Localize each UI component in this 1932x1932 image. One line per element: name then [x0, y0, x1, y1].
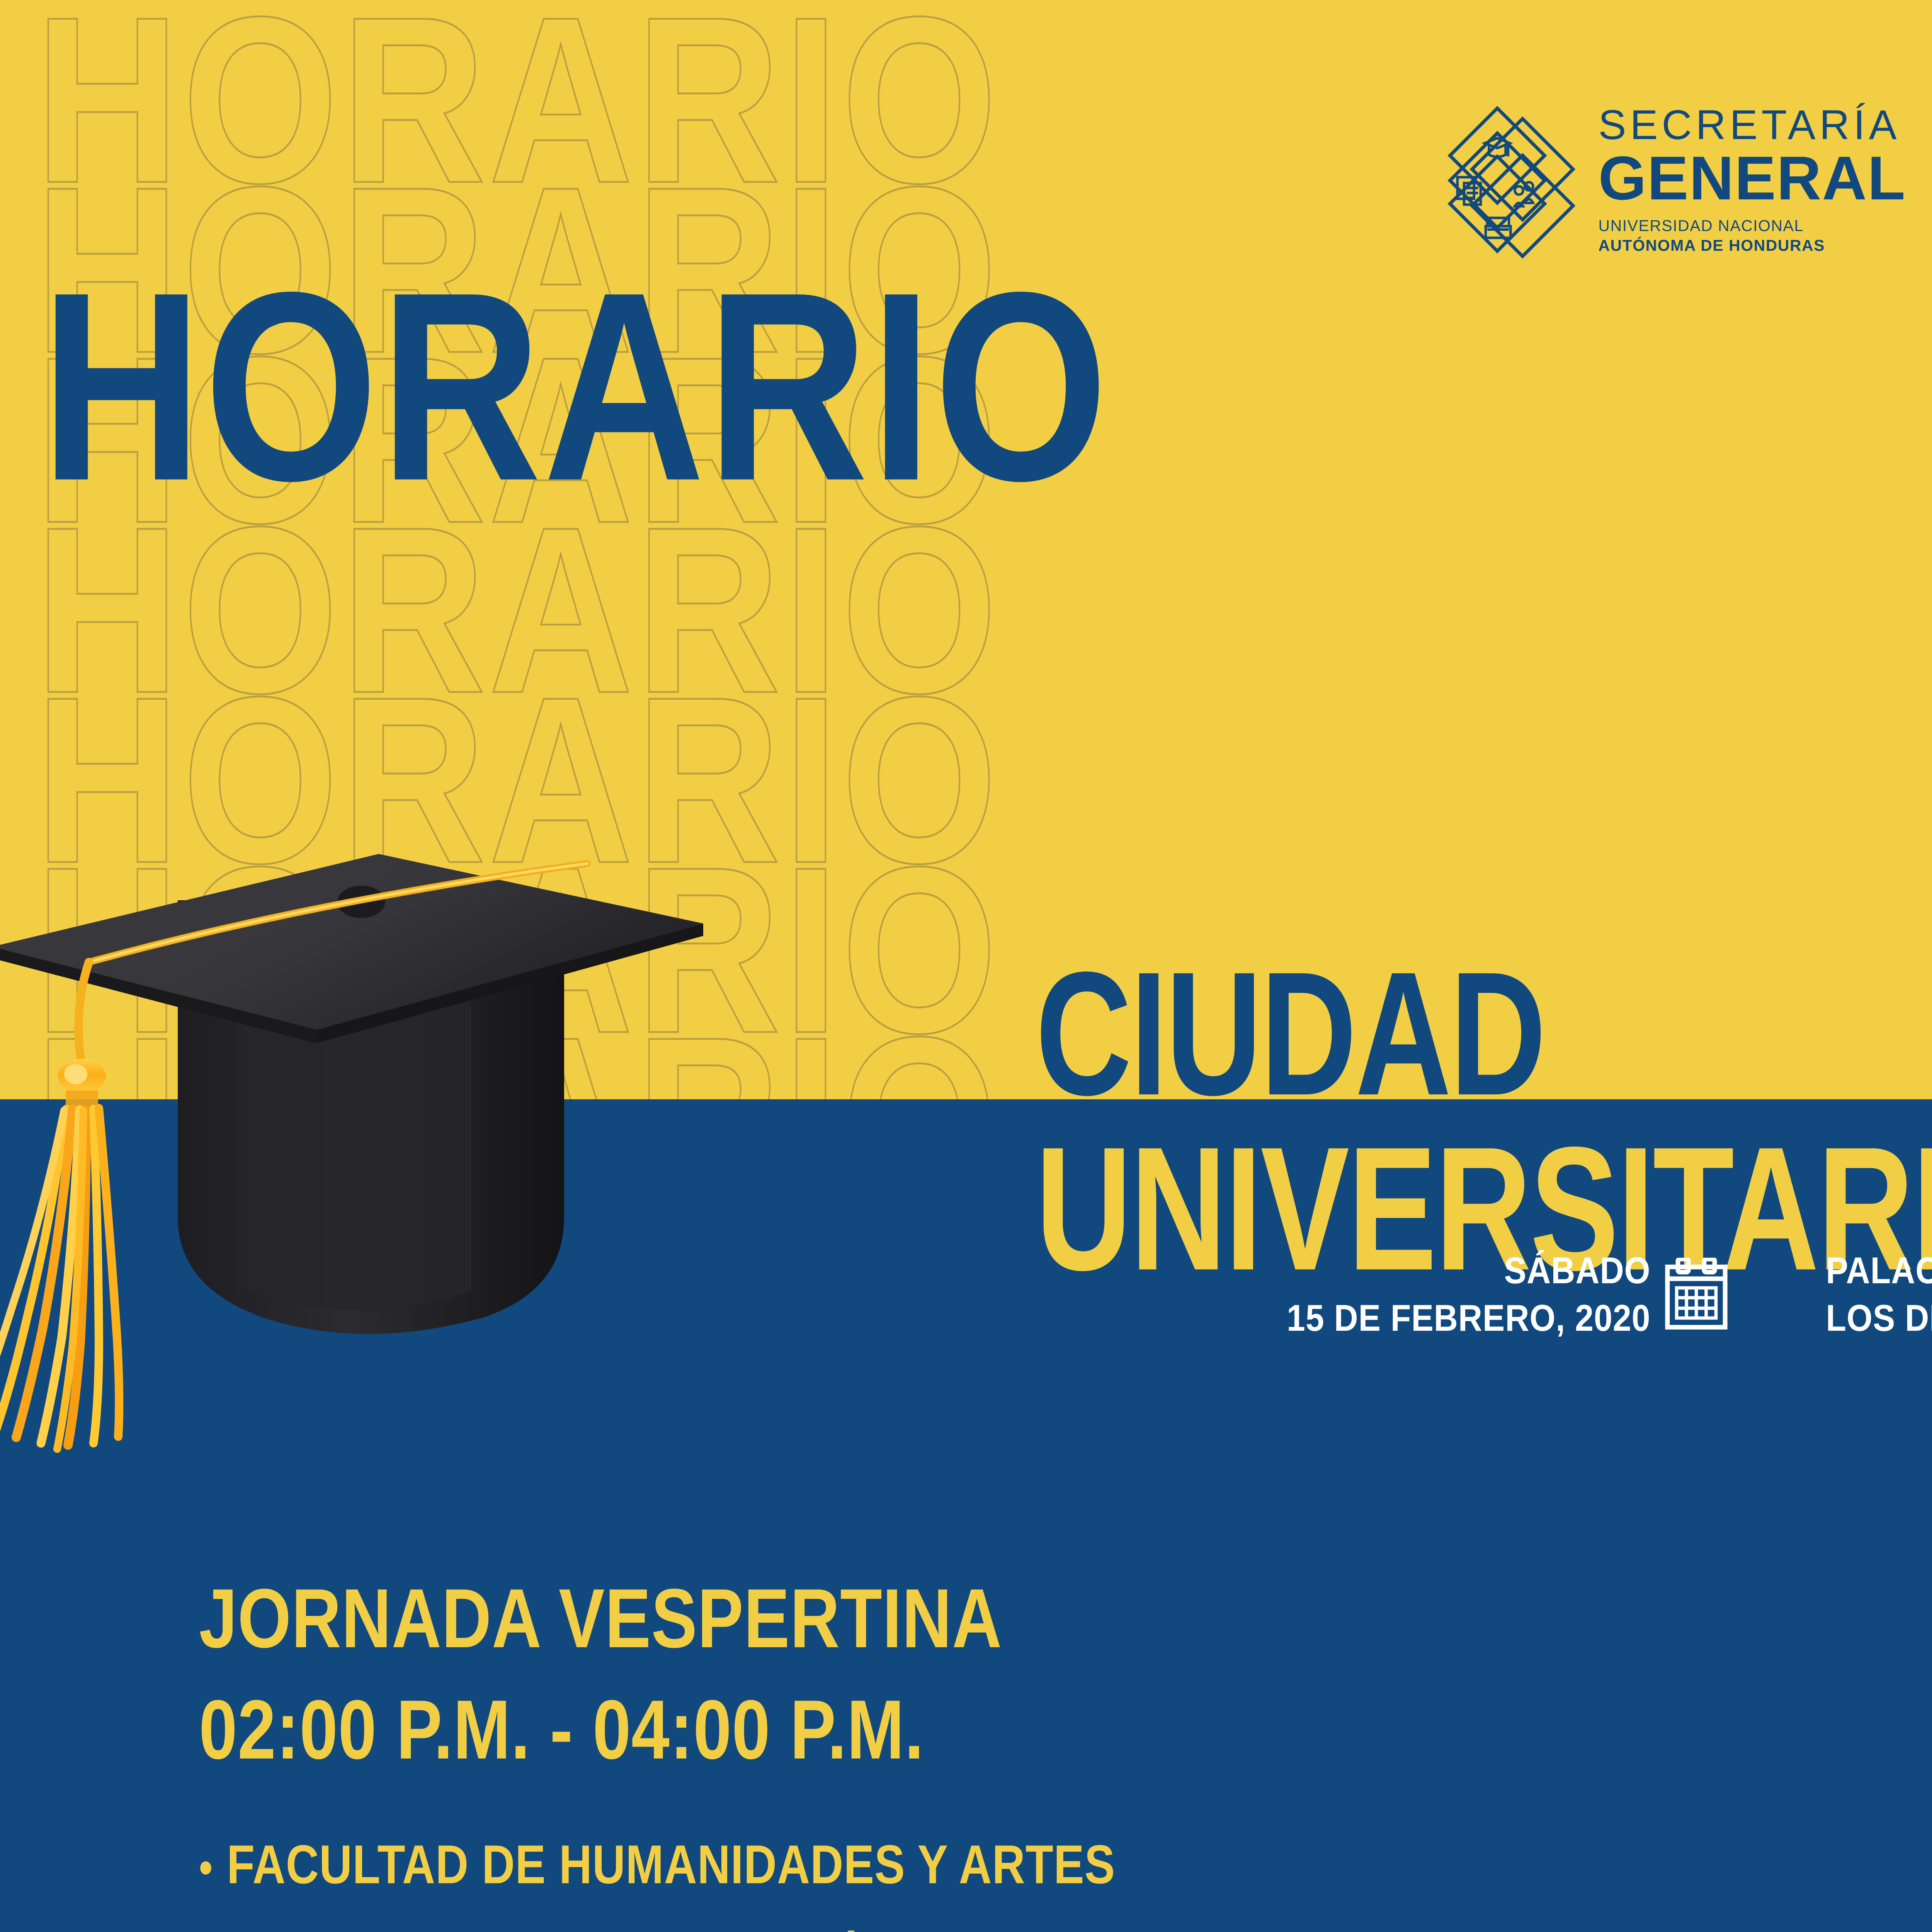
session-title: JORNADA VESPERTINA: [199, 1577, 1002, 1660]
faculty-list: • FACULTAD DE HUMANIDADES Y ARTES • FACU…: [199, 1837, 1115, 1932]
campus-line1: CIUDAD: [1036, 951, 1932, 1118]
general-label: GENERAL: [1598, 147, 1906, 209]
secretaria-sub2: AUTÓNOMA DE HONDURAS: [1598, 236, 1906, 255]
secretaria-general-logo: SECRETARÍA GENERAL UNIVERSIDAD NACIONAL …: [1414, 97, 1906, 263]
event-venue-group: PALACIO UNIVERSITARIO DE LOS DEPORTES: [1826, 1252, 1932, 1337]
event-venue-line2: LOS DEPORTES: [1826, 1294, 1932, 1342]
diamond-quadrant-logo-icon: [1414, 97, 1580, 263]
event-meta-row: SÁBADO 15 DE FEBRERO, 2020 PALACIO UNIVE…: [1287, 1252, 1932, 1337]
event-venue-line1: PALACIO UNIVERSITARIO DE: [1826, 1247, 1932, 1294]
event-date-day: SÁBADO: [1287, 1247, 1650, 1294]
header-logos: SECRETARÍA GENERAL UNIVERSIDAD NACIONAL …: [1414, 97, 1932, 263]
secretaria-general-text: SECRETARÍA GENERAL UNIVERSIDAD NACIONAL …: [1598, 104, 1906, 256]
event-date-group: SÁBADO 15 DE FEBRERO, 2020: [1287, 1252, 1729, 1337]
page-title: HORARIO: [41, 232, 1110, 541]
event-date-text: SÁBADO 15 DE FEBRERO, 2020: [1287, 1247, 1650, 1342]
tassel-strands: [0, 1108, 119, 1449]
campus-name: CIUDAD UNIVERSITARIA: [1036, 951, 1932, 1252]
event-date-full: 15 DE FEBRERO, 2020: [1287, 1294, 1650, 1342]
session-time: 02:00 P.M. - 04:00 P.M.: [199, 1688, 1002, 1772]
list-item: • FACULTAD DE HUMANIDADES Y ARTES: [199, 1837, 1115, 1892]
cap-board: [0, 854, 703, 1030]
secretaria-label: SECRETARÍA: [1598, 104, 1906, 146]
poster-canvas: HORARIO HORARIO HORARIO HORARIO HORARIO …: [0, 0, 1932, 1932]
secretaria-sub1: UNIVERSIDAD NACIONAL: [1598, 216, 1906, 236]
faculty-label: FACULTAD DE HUMANIDADES Y ARTES: [227, 1837, 1115, 1892]
event-venue-text: PALACIO UNIVERSITARIO DE LOS DEPORTES: [1826, 1247, 1932, 1342]
calendar-icon: [1663, 1258, 1729, 1331]
bullet-icon: •: [199, 1844, 213, 1891]
schedule-block: JORNADA VESPERTINA 02:00 P.M. - 04:00 P.…: [199, 1577, 1002, 1757]
